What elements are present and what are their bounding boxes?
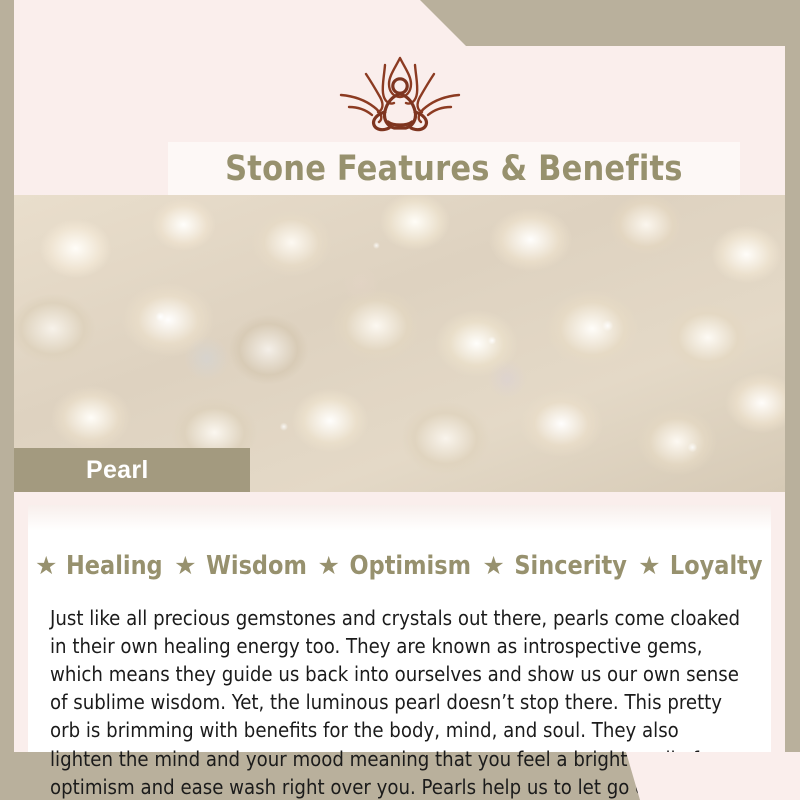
hero-image: Pearl <box>14 195 785 492</box>
star-icon: ★ <box>174 554 196 579</box>
benefit-label: Sincerity <box>514 551 627 581</box>
frame-accent-left <box>0 0 14 800</box>
benefit-label: Loyalty <box>669 551 762 581</box>
star-icon: ★ <box>482 554 504 579</box>
star-icon: ★ <box>317 554 339 579</box>
page-surface: BUDDHA STONES Stone Features & Benefits … <box>14 46 785 752</box>
card-top-fade <box>28 505 771 531</box>
stone-name-banner: Pearl <box>14 448 250 492</box>
benefit-item-wisdom: ★ Wisdom <box>174 551 308 581</box>
benefits-list: ★ Healing ★ Wisdom ★ Optimism ★ Sincerit… <box>28 551 771 581</box>
content-card: ★ Healing ★ Wisdom ★ Optimism ★ Sincerit… <box>28 505 771 752</box>
benefit-item-loyalty: ★ Loyalty <box>638 551 764 581</box>
stone-name-label: Pearl <box>14 456 149 485</box>
benefit-label: Optimism <box>349 551 470 581</box>
benefit-item-healing: ★ Healing <box>35 551 165 581</box>
benefit-item-sincerity: ★ Sincerity <box>482 551 629 581</box>
benefit-label: Wisdom <box>206 551 307 581</box>
lotus-meditation-figure-icon <box>325 52 475 140</box>
title-banner: Stone Features & Benefits <box>168 142 740 195</box>
frame-accent-right <box>785 0 800 800</box>
page-title: Stone Features & Benefits <box>225 149 683 189</box>
benefit-label: Healing <box>66 551 163 581</box>
poster-root: BUDDHA STONES Stone Features & Benefits … <box>0 0 800 800</box>
benefit-item-optimism: ★ Optimism <box>317 551 473 581</box>
star-icon: ★ <box>35 554 57 579</box>
star-icon: ★ <box>638 554 660 579</box>
